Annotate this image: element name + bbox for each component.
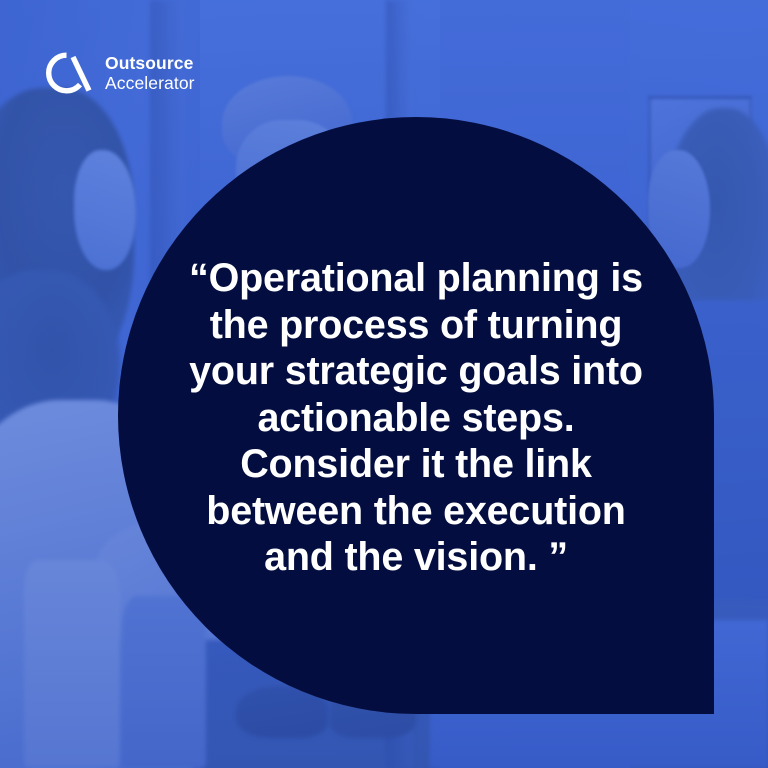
quote-text: “Operational planning is the process of … bbox=[118, 255, 714, 581]
brand-logo[interactable]: Outsource Accelerator bbox=[44, 50, 195, 96]
brand-line-outsource: Outsource bbox=[105, 54, 195, 74]
outsource-accelerator-monogram-icon bbox=[44, 50, 92, 96]
brand-wordmark: Outsource Accelerator bbox=[105, 53, 195, 94]
brand-line-accelerator: Accelerator bbox=[105, 74, 195, 94]
quote-graphic-canvas: “Operational planning is the process of … bbox=[0, 0, 768, 768]
